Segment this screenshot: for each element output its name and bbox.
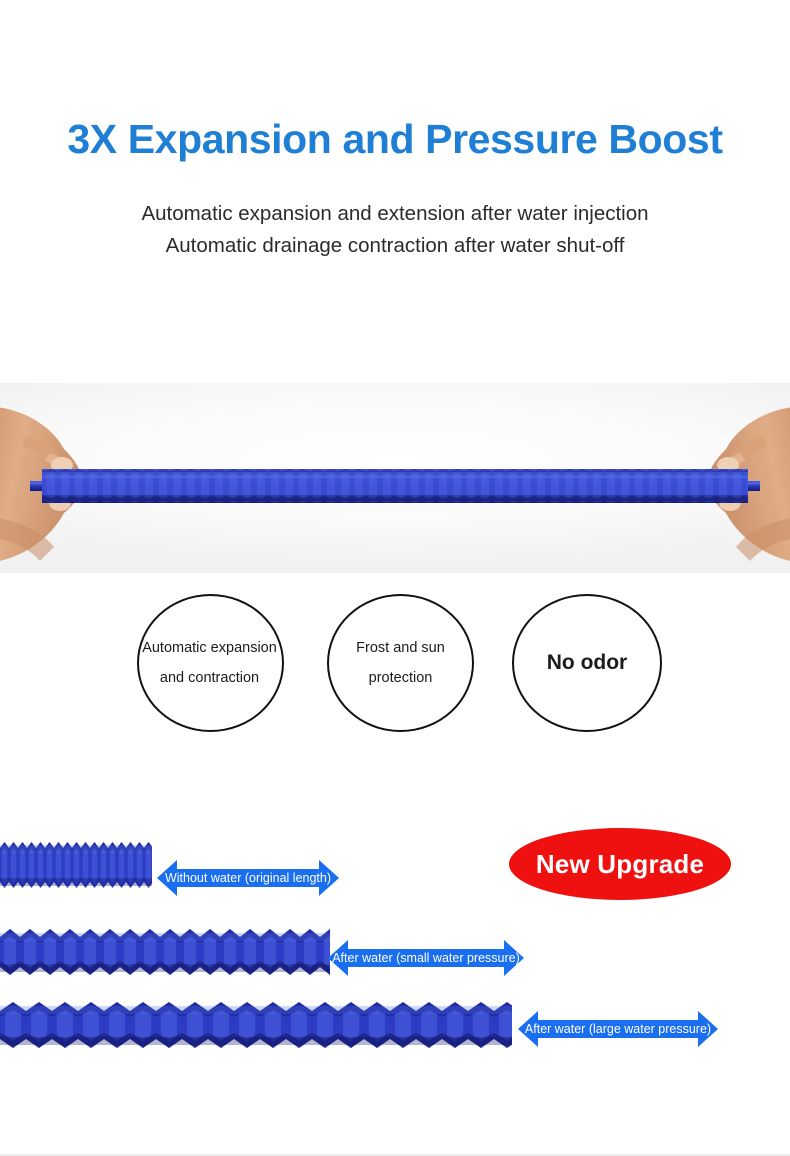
arrow-label-small-pressure: After water (small water pressure) xyxy=(328,937,524,979)
product-marketing-image: 3X Expansion and Pressure Boost Automati… xyxy=(0,0,790,1156)
feature-circle-3-line-1: No odor xyxy=(547,650,627,675)
subtitle-line-1: Automatic expansion and extension after … xyxy=(0,204,790,225)
new-upgrade-badge: New Upgrade xyxy=(509,828,731,900)
new-upgrade-badge-text: New Upgrade xyxy=(536,849,704,880)
arrow-label-large-pressure: After water (large water pressure) xyxy=(518,1008,718,1050)
feature-circle-2-line-1: Frost and sun xyxy=(356,633,445,663)
hose-strip-original xyxy=(0,842,152,888)
stretched-hose xyxy=(30,469,760,503)
feature-circle-no-odor: No odor xyxy=(512,594,662,732)
page-title: 3X Expansion and Pressure Boost xyxy=(0,118,790,161)
feature-circle-1-line-1: Automatic expansion xyxy=(142,633,277,663)
hose-strip-large-pressure xyxy=(0,1002,512,1048)
feature-circle-2-line-2: protection xyxy=(369,663,433,693)
subtitle-line-2: Automatic drainage contraction after wat… xyxy=(0,236,790,257)
feature-circle-protection: Frost and sun protection xyxy=(327,594,474,732)
feature-circle-expansion: Automatic expansion and contraction xyxy=(137,594,284,732)
hero-photo xyxy=(0,383,790,573)
feature-circle-1-line-2: and contraction xyxy=(160,663,259,693)
hose-strip-small-pressure xyxy=(0,929,330,975)
arrow-label-original-length: Without water (original length) xyxy=(157,857,339,899)
